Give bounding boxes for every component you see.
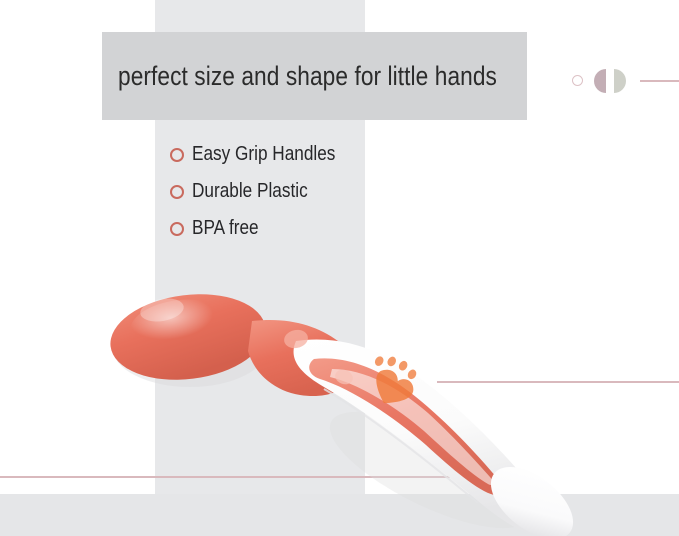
list-item: Easy Grip Handles xyxy=(170,136,359,173)
circle-bullet-icon xyxy=(170,185,184,199)
half-disc-left-icon xyxy=(594,69,606,93)
circle-bullet-icon xyxy=(170,148,184,162)
product-feature-banner: perfect size and shape for little hands … xyxy=(0,0,679,536)
page-title: perfect size and shape for little hands xyxy=(118,56,454,96)
list-item: BPA free xyxy=(170,210,359,247)
feature-label: BPA free xyxy=(192,217,259,240)
circle-bullet-icon xyxy=(170,222,184,236)
decorative-rule-top xyxy=(640,80,679,82)
list-item: Durable Plastic xyxy=(170,173,359,210)
small-ring-icon xyxy=(572,75,583,86)
feature-label: Easy Grip Handles xyxy=(192,143,335,166)
half-disc-right-icon xyxy=(614,69,626,93)
product-image-spoon xyxy=(100,255,580,536)
feature-list: Easy Grip Handles Durable Plastic BPA fr… xyxy=(170,136,359,247)
feature-label: Durable Plastic xyxy=(192,180,308,203)
